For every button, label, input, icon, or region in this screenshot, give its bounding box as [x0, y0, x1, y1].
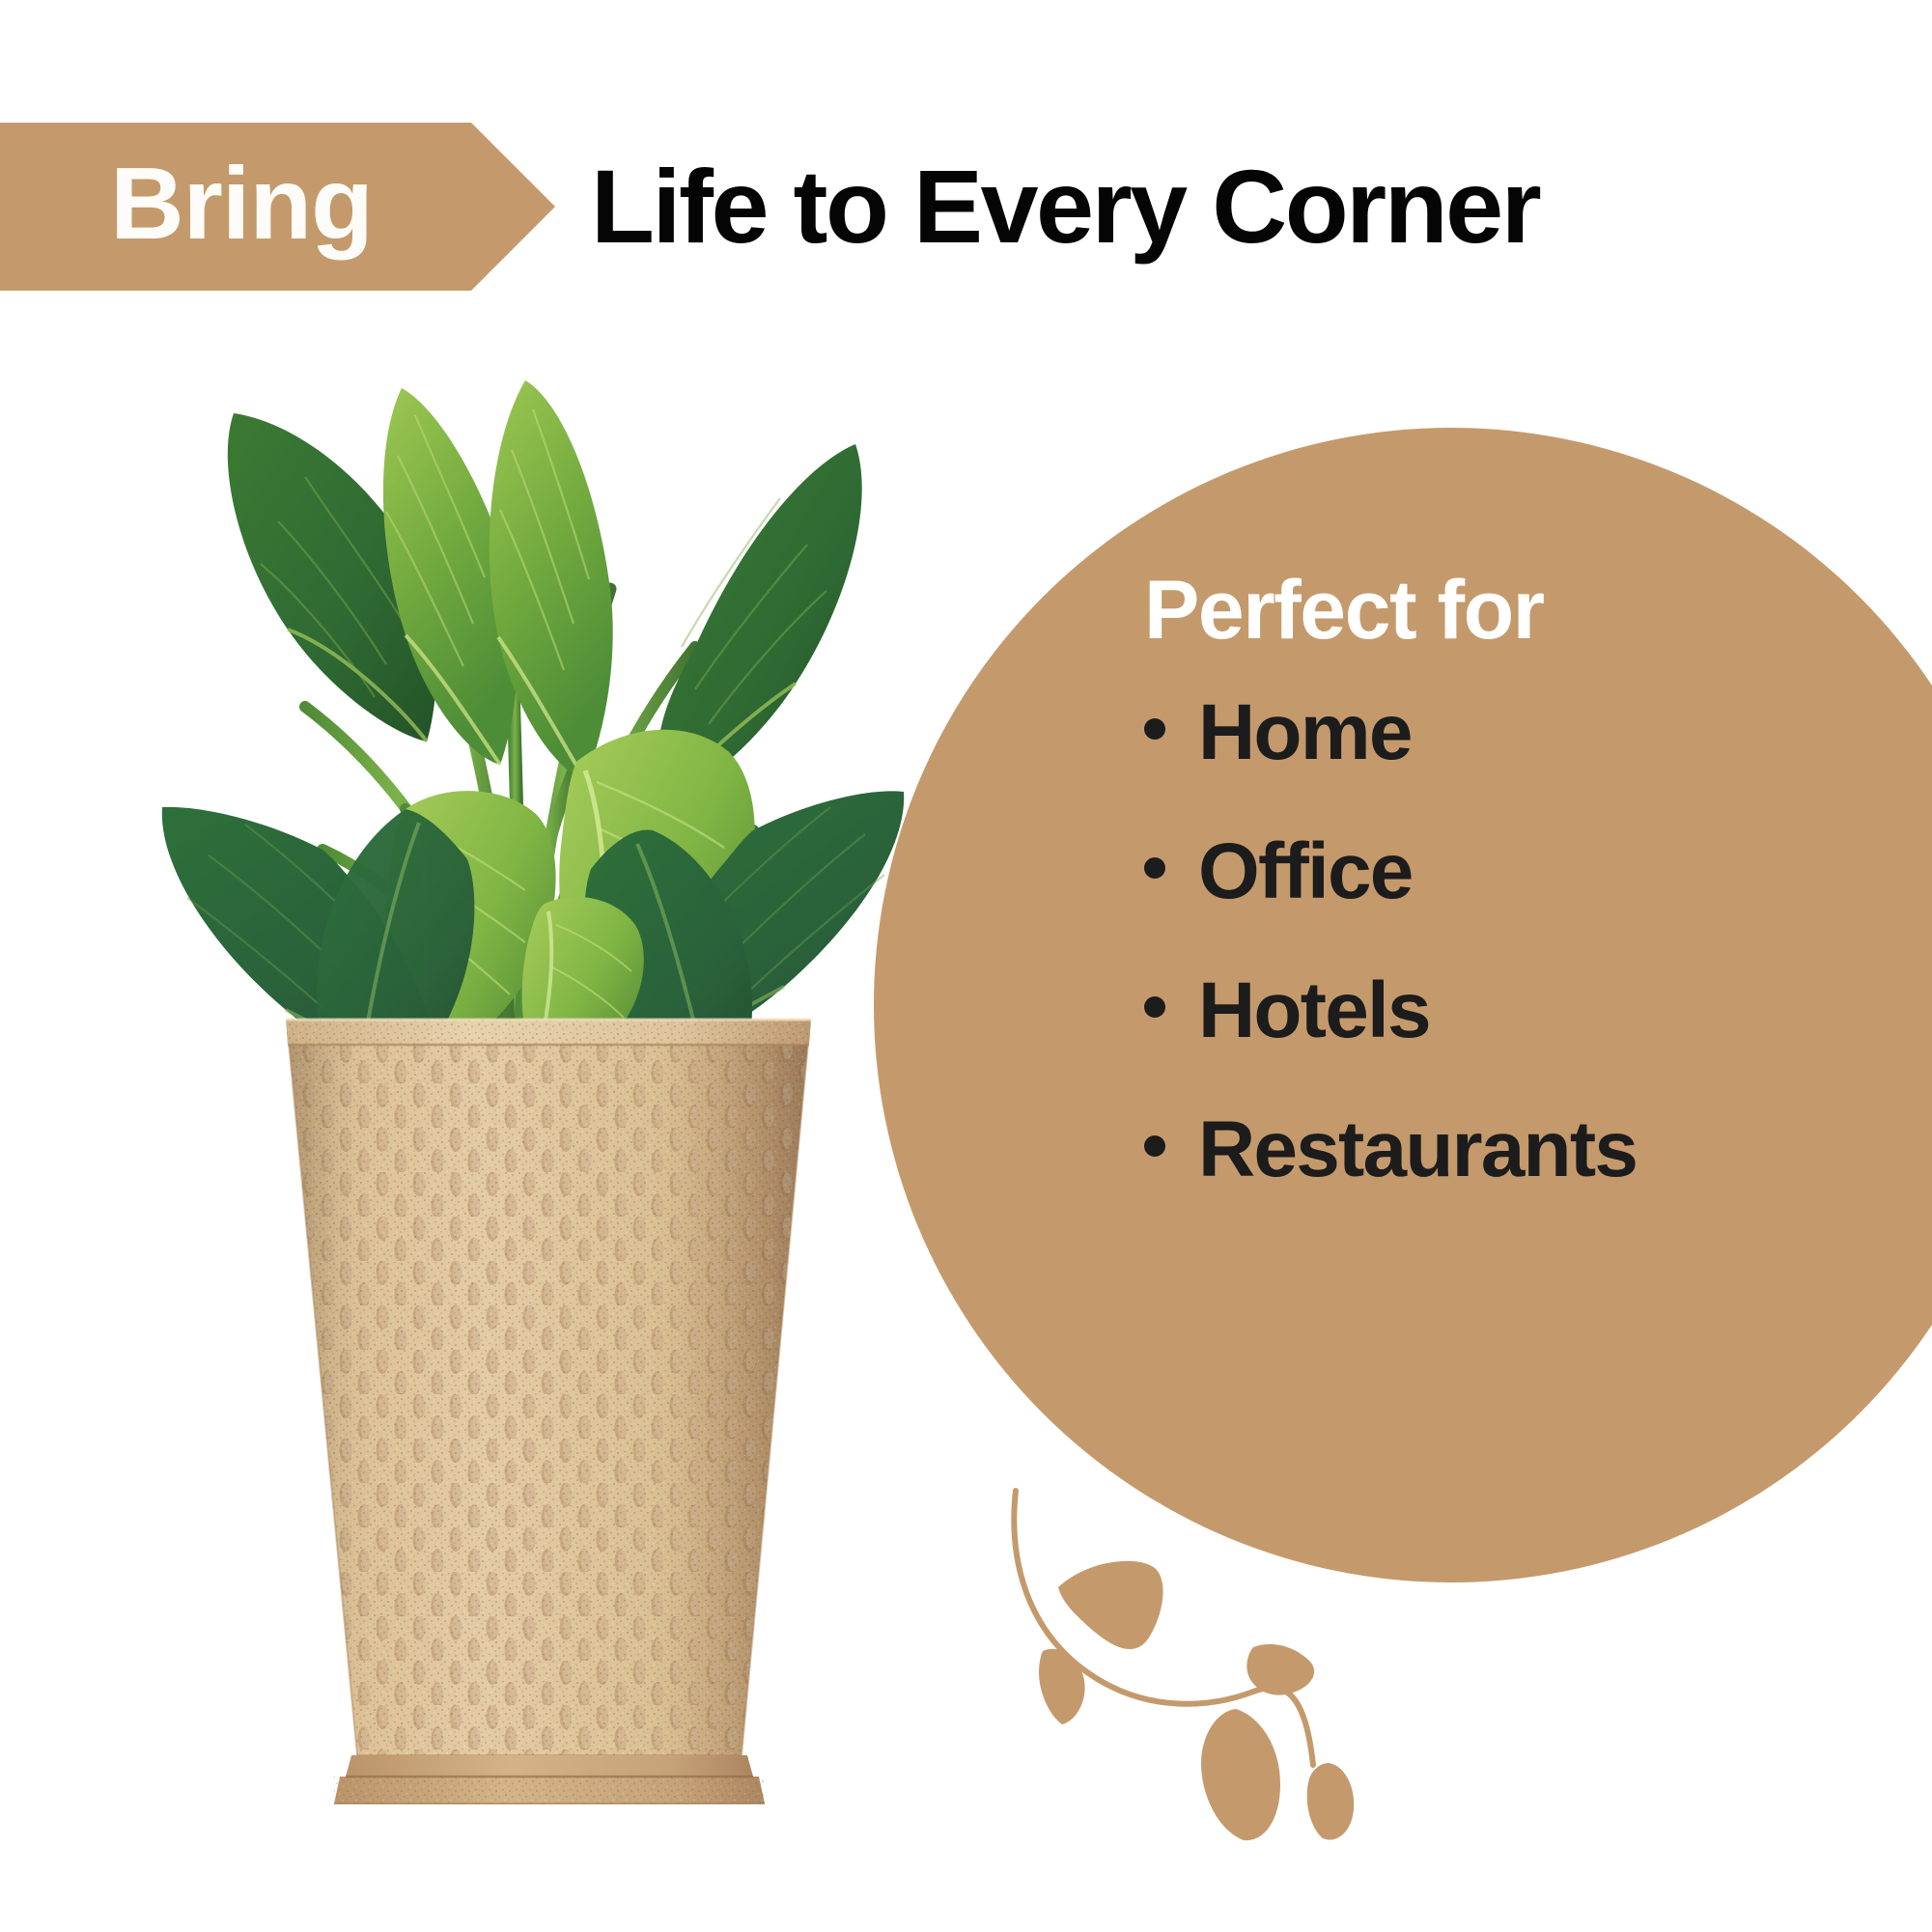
bullet-icon	[1144, 1135, 1165, 1157]
list-item: Restaurants	[1144, 1110, 1932, 1190]
bullet-icon	[1144, 996, 1165, 1018]
vine-leaf	[1246, 1644, 1314, 1695]
bullet-icon	[1144, 718, 1165, 740]
list-item: Home	[1144, 693, 1932, 772]
vine-leaf	[1058, 1561, 1163, 1649]
vine-leaf	[1201, 1709, 1280, 1840]
planter-base	[334, 1755, 765, 1804]
list-item: Hotels	[1144, 971, 1932, 1050]
list-item: Office	[1144, 832, 1932, 911]
planter-illustration	[116, 328, 908, 1863]
vine-leaf	[1039, 1649, 1085, 1724]
banner-label: Bring	[0, 123, 483, 291]
planter-body	[261, 1004, 840, 1796]
page-title: Life to Every Corner	[591, 123, 1539, 298]
use-case-list: Home Office Hotels Restaurants	[1144, 693, 1932, 1190]
list-item-label: Office	[1198, 832, 1413, 911]
header-band: Bring Life to Every Corner	[0, 0, 1932, 319]
vine-leaf	[1307, 1763, 1355, 1840]
promo-canvas: Bring Life to Every Corner	[0, 0, 1932, 1932]
bullet-icon	[1144, 857, 1165, 879]
list-item-label: Hotels	[1198, 971, 1430, 1050]
panel-title: Perfect for	[1144, 565, 1932, 657]
perfect-for-content: Perfect for Home Office Hotels Restauran…	[1144, 565, 1932, 1190]
product-image	[116, 328, 908, 1863]
list-item-label: Home	[1198, 693, 1412, 772]
list-item-label: Restaurants	[1198, 1110, 1637, 1190]
